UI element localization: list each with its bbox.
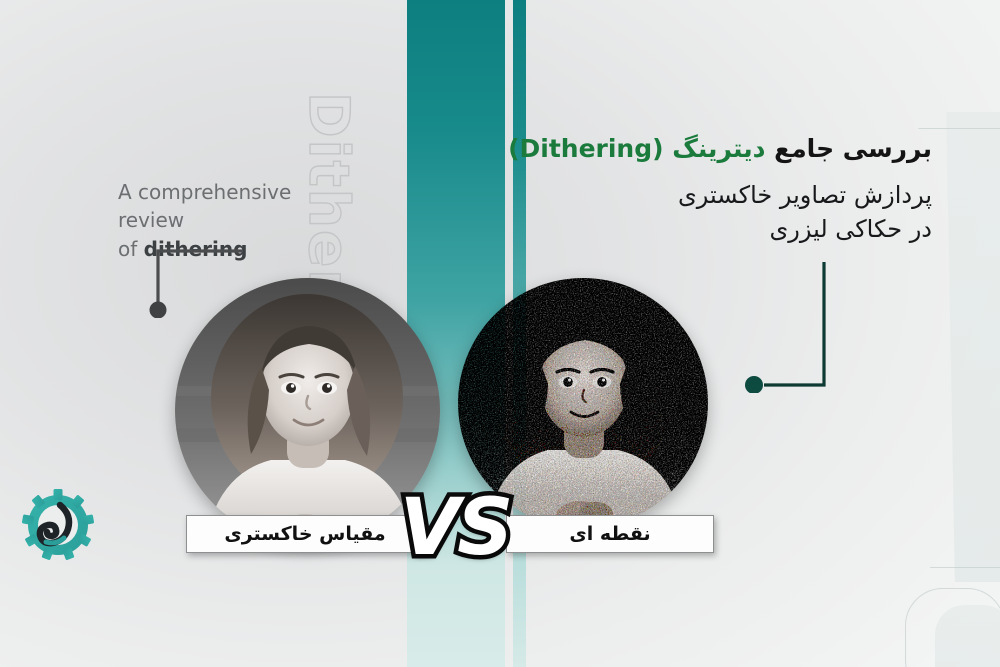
headline-line-1-prefix: بررسی جامع bbox=[765, 134, 932, 163]
banner-canvas: Dithering A comprehensive review of dith… bbox=[0, 0, 1000, 667]
headline-line-1: بررسی جامع دیترینگ (Dithering) bbox=[492, 132, 932, 166]
caption-grayscale: مقیاس خاکستری bbox=[186, 515, 424, 553]
english-caption-line-1: A comprehensive review bbox=[118, 180, 291, 232]
decorative-exclamation-dot-outline bbox=[905, 588, 1000, 667]
headline-line-3: در حکاکی لیزری bbox=[492, 212, 932, 247]
headline-line-2: پردازش تصاویر خاکستری bbox=[492, 178, 932, 213]
right-connector-line bbox=[740, 258, 830, 393]
versus-badge: VS bbox=[398, 482, 512, 574]
headline-accent-dithering: دیترینگ (Dithering) bbox=[508, 134, 765, 163]
gear-logo[interactable] bbox=[20, 487, 96, 563]
headline-block: بررسی جامع دیترینگ (Dithering) پردازش تص… bbox=[492, 132, 932, 247]
caption-dithered: نقطه ای bbox=[506, 515, 714, 553]
